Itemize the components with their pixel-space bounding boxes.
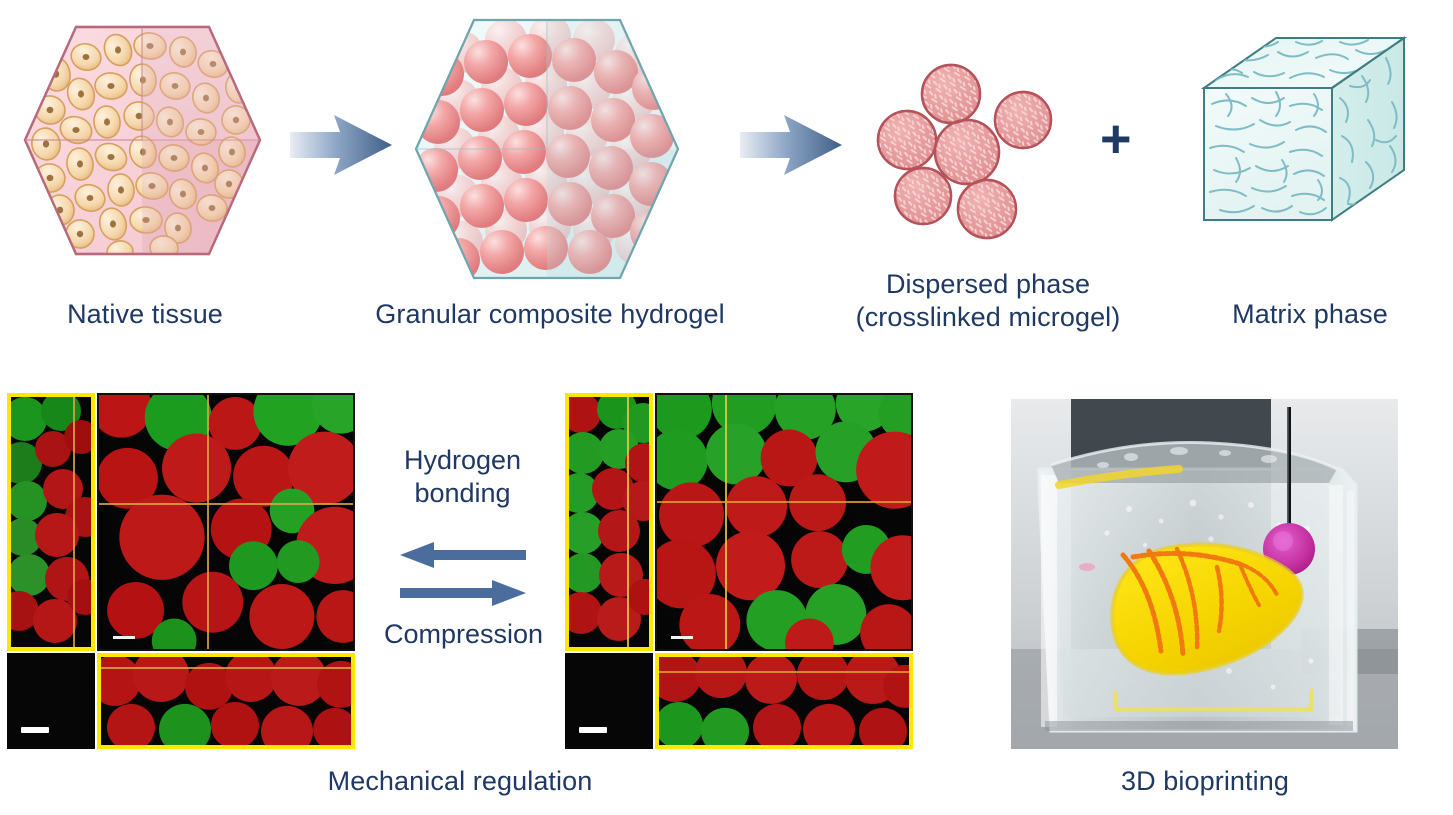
confocal-relaxed-corner-scalebar-box (7, 653, 95, 749)
native-tissue-graphic (10, 12, 275, 277)
confocal-relaxed-xy-crosshair-h (99, 503, 353, 505)
confocal-compressed-xz-view (655, 653, 913, 749)
confocal-compressed-panel[interactable] (563, 391, 915, 751)
confocal-relaxed-xz-view (97, 653, 355, 749)
figure-root: Native tissue (0, 0, 1453, 815)
compression-label: Compression (366, 618, 561, 651)
arrow-hydrogen-bonding-icon (398, 540, 528, 570)
confocal-relaxed-xy-view (97, 393, 355, 651)
confocal-relaxed-xy-crosshair-v (207, 395, 209, 649)
plus-symbol: + (1100, 112, 1132, 166)
confocal-relaxed-yz-view (7, 393, 95, 651)
confocal-compressed-scale-bar (579, 727, 607, 733)
confocal-relaxed-panel[interactable] (5, 391, 357, 751)
confocal-compressed-metadata (671, 625, 672, 631)
confocal-compressed-corner-scalebar-box (565, 653, 653, 749)
matrix-phase-caption: Matrix phase (1165, 298, 1453, 331)
confocal-compressed-xy-crosshair-v (725, 395, 727, 649)
granular-composite-hydrogel-caption: Granular composite hydrogel (340, 298, 760, 331)
matrix-phase-graphic (1190, 28, 1440, 278)
arrow-2-icon (738, 110, 844, 180)
arrow-compression-icon (398, 578, 528, 608)
confocal-compressed-xy-view (655, 393, 913, 651)
confocal-relaxed-metadata (113, 625, 114, 631)
confocal-relaxed-yz-crosshair (73, 397, 75, 647)
arrow-1-icon (288, 110, 394, 180)
bioprinting-photo (1011, 399, 1398, 749)
native-tissue-caption: Native tissue (0, 298, 290, 331)
granular-composite-hydrogel-graphic (400, 12, 695, 290)
confocal-compressed-xz-crosshair (659, 671, 909, 673)
confocal-compressed-inline-scalebar (671, 636, 693, 639)
confocal-relaxed-scale-bar (21, 727, 49, 733)
mechanical-regulation-caption: Mechanical regulation (250, 765, 670, 798)
dispersed-phase-graphic (875, 62, 1090, 262)
confocal-compressed-yz-view (565, 393, 653, 651)
confocal-compressed-xy-crosshair-h (657, 501, 911, 503)
confocal-compressed-yz-crosshair (627, 397, 629, 647)
hydrogen-bonding-label: Hydrogen bonding (370, 444, 555, 510)
dispersed-phase-caption: Dispersed phase (crosslinked microgel) (828, 268, 1148, 334)
confocal-relaxed-xz-crosshair (101, 667, 351, 669)
bioprinting-caption: 3D bioprinting (1020, 765, 1390, 798)
confocal-relaxed-inline-scalebar (113, 636, 135, 639)
